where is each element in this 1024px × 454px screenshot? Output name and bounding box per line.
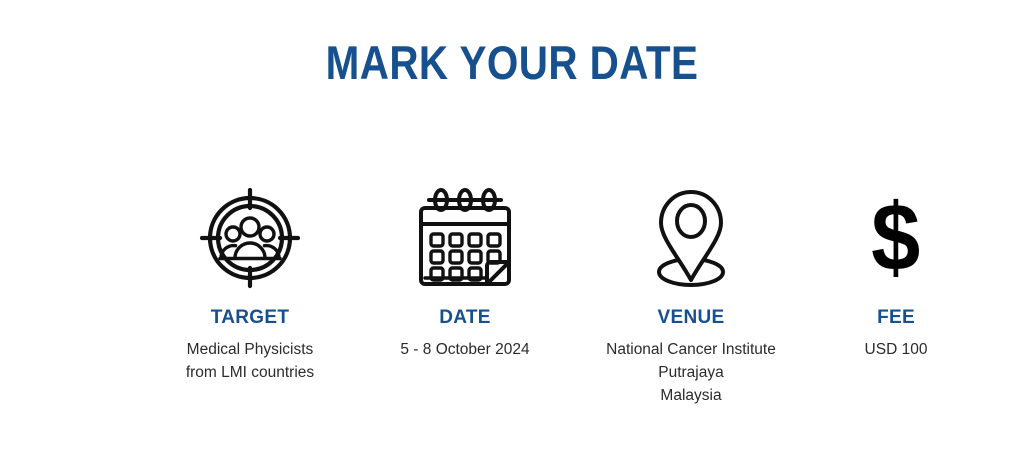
heading-venue: VENUE [658,308,725,329]
column-venue: VENUE National Cancer Institute Putrajay… [576,186,806,407]
body-date-line-1: 5 - 8 October 2024 [400,338,529,361]
column-fee: $ FEE USD 100 [806,186,986,361]
page-title: MARK YOUR DATE [72,38,953,87]
body-venue-line-3: Malaysia [606,384,776,407]
location-pin-icon [641,186,741,290]
body-date: 5 - 8 October 2024 [400,338,529,361]
body-fee-line-1: USD 100 [865,338,928,361]
mark-your-date-slide: MARK YOUR DATE [0,0,1024,454]
column-date: DATE 5 - 8 October 2024 [360,186,570,361]
dollar-glyph: $ [871,190,920,286]
body-target-line-1: Medical Physicists [186,338,314,361]
body-target-line-2: from LMI countries [186,361,314,384]
heading-target: TARGET [211,308,290,329]
column-target: TARGET Medical Physicists from LMI count… [140,186,360,384]
body-venue-line-2: Putrajaya [606,361,776,384]
info-columns: TARGET Medical Physicists from LMI count… [0,186,1024,407]
body-venue-line-1: National Cancer Institute [606,338,776,361]
heading-date: DATE [439,308,491,329]
calendar-icon [415,186,515,290]
body-target: Medical Physicists from LMI countries [186,338,314,384]
body-venue: National Cancer Institute Putrajaya Mala… [606,338,776,407]
target-people-icon [198,186,302,290]
body-fee: USD 100 [865,338,928,361]
dollar-sign-icon: $ [869,186,922,290]
heading-fee: FEE [877,308,915,329]
